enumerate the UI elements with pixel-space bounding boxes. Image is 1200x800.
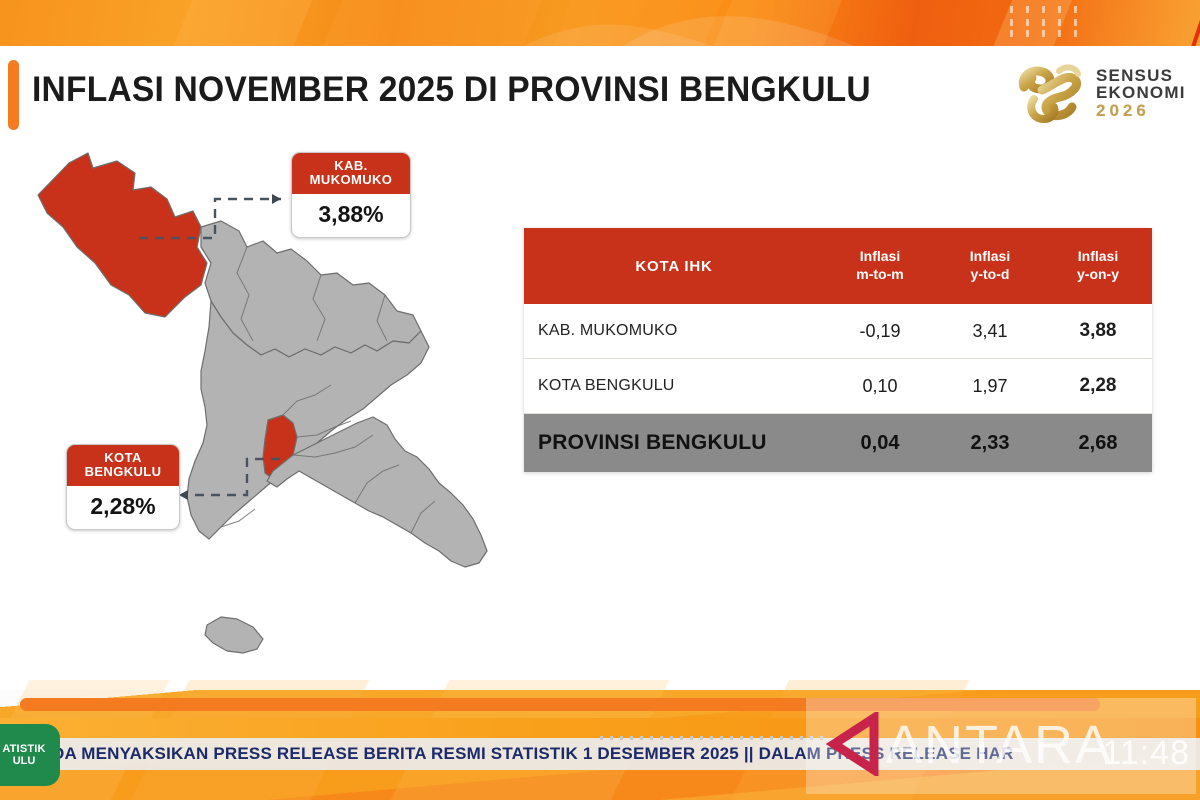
banner-facet (696, 0, 854, 46)
cell-ytd: 3,41 (936, 304, 1044, 359)
antara-arrow-icon (824, 712, 888, 776)
table-header: KOTA IHK Inflasi m-to-m Inflasi y-to-d I… (524, 228, 1152, 304)
column-header-mtm: Inflasi m-to-m (824, 228, 936, 304)
title-accent-bar (8, 60, 19, 130)
column-header-city: KOTA IHK (524, 228, 824, 304)
inflation-table: KOTA IHK Inflasi m-to-m Inflasi y-to-d I… (524, 228, 1152, 472)
column-header-yoy: Inflasi y-on-y (1044, 228, 1152, 304)
cell-yoy: 3,88 (1044, 304, 1152, 359)
cell-total-yoy: 2,68 (1044, 414, 1152, 473)
column-header-ytd-line1: Inflasi (970, 248, 1010, 264)
callout-kota-bengkulu-label: KOTA BENGKULU (67, 445, 179, 486)
bps-logo-badge: ATISTIK ULU (0, 724, 60, 786)
callout-mukomuko-value: 3,88% (292, 194, 410, 237)
column-header-mtm-line1: Inflasi (860, 248, 900, 264)
sensus-ekonomi-logo: SENSUS EKONOMI 2026 (1012, 55, 1180, 131)
cell-ytd: 1,97 (936, 359, 1044, 414)
sensus-swirl-icon (1012, 57, 1090, 129)
callout-kota-bengkulu-label-line2: BENGKULU (85, 464, 162, 479)
callout-kota-bengkulu-value: 2,28% (67, 486, 179, 529)
table-row: KOTA BENGKULU 0,10 1,97 2,28 (524, 359, 1152, 414)
column-header-yoy-line1: Inflasi (1078, 248, 1118, 264)
table-header-row: KOTA IHK Inflasi m-to-m Inflasi y-to-d I… (524, 228, 1152, 304)
banner-facet (536, 0, 734, 46)
callout-mukomuko-label: KAB. MUKOMUKO (292, 153, 410, 194)
bps-badge-line1: ATISTIK (2, 743, 45, 755)
table-body: KAB. MUKOMUKO -0,19 3,41 3,88 KOTA BENGK… (524, 304, 1152, 472)
callout-mukomuko[interactable]: KAB. MUKOMUKO 3,88% (291, 152, 411, 238)
banner-facet (156, 0, 324, 46)
logo-line-1: SENSUS (1096, 67, 1186, 84)
column-header-mtm-line2: m-to-m (856, 266, 903, 282)
logo-line-2: EKONOMI (1096, 84, 1186, 101)
broadcast-lower-third: DA MENYAKSIKAN PRESS RELEASE BERITA RESM… (0, 690, 1200, 800)
callout-kota-bengkulu-label-line1: KOTA (104, 450, 141, 465)
logo-line-3: 2026 (1096, 102, 1186, 119)
cell-mtm: -0,19 (824, 304, 936, 359)
cell-total-mtm: 0,04 (824, 414, 936, 473)
cell-mtm: 0,10 (824, 359, 936, 414)
table-row: KAB. MUKOMUKO -0,19 3,41 3,88 (524, 304, 1152, 359)
antara-watermark: ANTARA 11:48 (806, 698, 1196, 794)
top-decorative-banner (0, 0, 1200, 46)
broadcast-screen: INFLASI NOVEMBER 2025 DI PROVINSI BENGKU… (0, 0, 1200, 800)
map-region-island (205, 617, 263, 653)
cell-total-ytd: 2,33 (936, 414, 1044, 473)
map-region-mukomuko (38, 153, 207, 317)
bps-badge-line2: ULU (13, 755, 36, 767)
banner-facet (306, 0, 554, 46)
column-header-ytd-line2: y-to-d (971, 266, 1010, 282)
column-header-ytd: Inflasi y-to-d (936, 228, 1044, 304)
bengkulu-province-map (25, 135, 545, 680)
cell-total-city: PROVINSI BENGKULU (524, 414, 824, 473)
callout-mukomuko-label-line2: MUKOMUKO (310, 172, 393, 187)
cell-city: KAB. MUKOMUKO (524, 304, 824, 359)
cell-city: KOTA BENGKULU (524, 359, 824, 414)
column-header-yoy-line2: y-on-y (1077, 266, 1119, 282)
antara-wordmark: ANTARA (886, 714, 1113, 776)
callout-mukomuko-label-line1: KAB. (334, 158, 367, 173)
banner-dot-grid (1010, 6, 1114, 38)
broadcast-clock: 11:48 (1102, 734, 1190, 773)
page-title: INFLASI NOVEMBER 2025 DI PROVINSI BENGKU… (32, 70, 915, 110)
table-total-row: PROVINSI BENGKULU 0,04 2,33 2,68 (524, 414, 1152, 473)
callout-kota-bengkulu[interactable]: KOTA BENGKULU 2,28% (66, 444, 180, 530)
cell-yoy: 2,28 (1044, 359, 1152, 414)
